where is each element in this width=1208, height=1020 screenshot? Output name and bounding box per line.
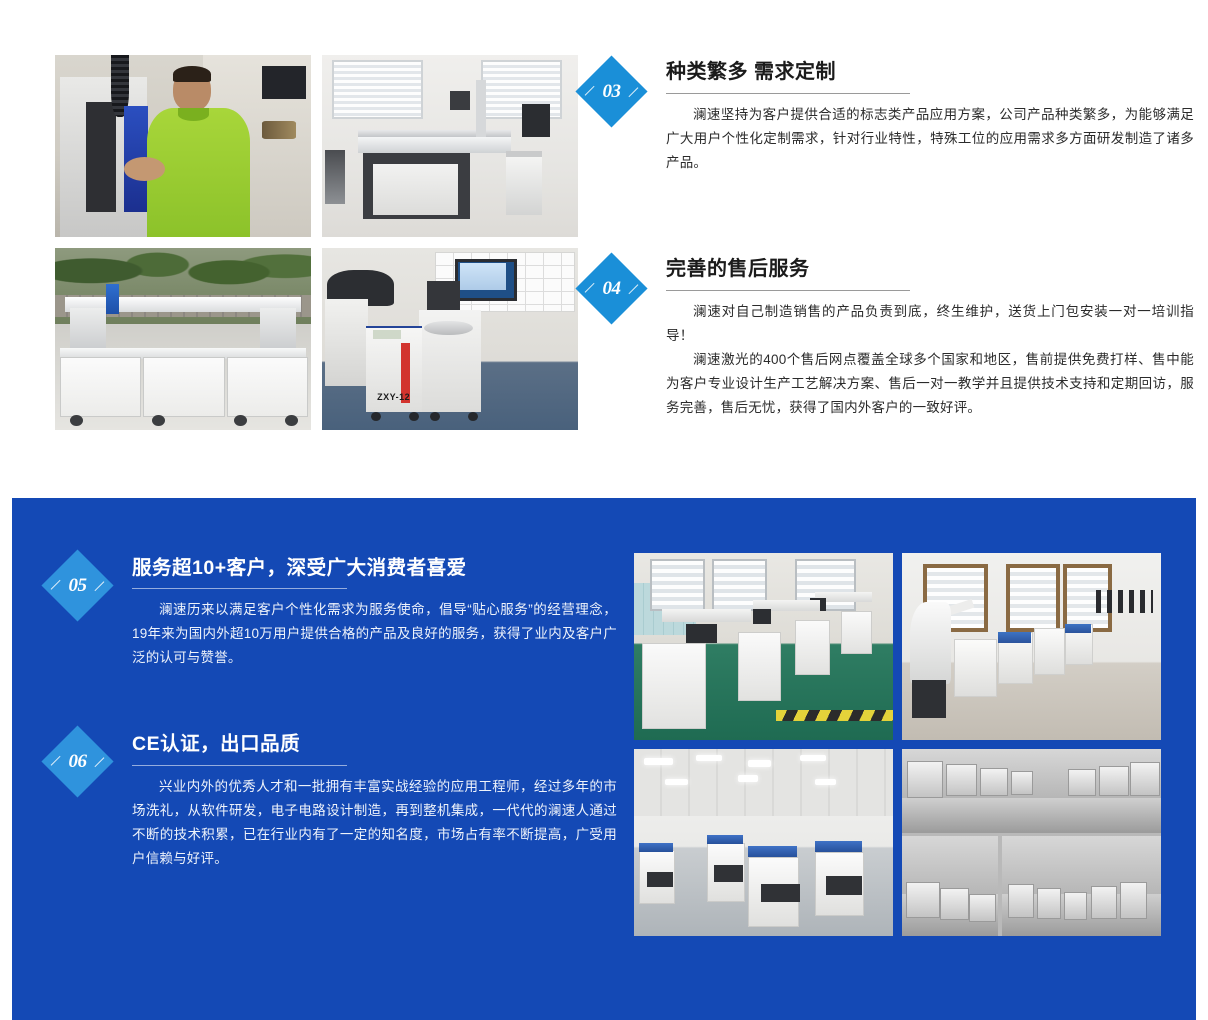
feature-title-03: 种类繁多 需求定制 <box>666 60 1194 85</box>
feature-block-04: 04 完善的售后服务 澜速对自己制造销售的产品负责到底，终生维护，送货上门包安装… <box>586 257 1194 420</box>
feature-paragraph: 澜速坚持为客户提供合适的标志类产品应用方案，公司产品种类繁多，为能够满足广大用户… <box>666 103 1194 175</box>
feature-body-04: 澜速对自己制造销售的产品负责到底，终生维护，送货上门包安装一对一培训指导！ 澜速… <box>666 300 1194 420</box>
step-badge-06: 06 <box>41 726 113 798</box>
title-divider <box>132 765 347 766</box>
photo-factory-floor-collage-grayscale: 厂房全景拼图（黑白） <box>902 749 1161 936</box>
feature-block-05: 05 服务超10+客户，深受广大消费者喜爱 澜速历来以满足客户个性化需求为服务使… <box>52 556 617 670</box>
feature-paragraph: 兴业内外的优秀人才和一批拥有丰富实战经验的应用工程师，经过多年的市场洗礼，从软件… <box>132 775 617 871</box>
feature-title-05: 服务超10+客户，深受广大消费者喜爱 <box>132 556 617 580</box>
feature-body-03: 澜速坚持为客户提供合适的标志类产品应用方案，公司产品种类繁多，为能够满足广大用户… <box>666 103 1194 175</box>
blue-highlight-panel: 05 服务超10+客户，深受广大消费者喜爱 澜速历来以满足客户个性化需求为服务使… <box>12 498 1196 1020</box>
step-badge-03: 03 <box>575 55 647 127</box>
panel-feature-list: 05 服务超10+客户，深受广大消费者喜爱 澜速历来以满足客户个性化需求为服务使… <box>52 556 617 927</box>
feature-block-03: 03 种类繁多 需求定制 澜速坚持为客户提供合适的标志类产品应用方案，公司产品种… <box>586 60 1194 175</box>
feature-paragraph: 澜速历来以满足客户个性化需求为服务使命，倡导“贴心服务”的经营理念，19年来为国… <box>132 598 617 670</box>
step-number: 03 <box>586 66 637 117</box>
title-divider <box>666 290 910 291</box>
step-number: 05 <box>52 560 103 611</box>
photo-laser-welding-station-with-chiller: ZXY-12 激光焊接工作站与工业冷水机 <box>322 248 578 430</box>
photo-showroom-robot-arm-and-machines: 展厅机器人手臂与激光设备 <box>902 553 1161 740</box>
top-photo-grid: 技术人员与激光打标设备 大幅面龙门式激光设备与冷水机 <box>55 55 578 435</box>
feature-paragraph: 澜速对自己制造销售的产品负责到底，终生维护，送货上门包安装一对一培训指导！ <box>666 300 1194 348</box>
feature-block-06: 06 CE认证，出口品质 兴业内外的优秀人才和一批拥有丰富实战经验的应用工程师，… <box>52 732 617 870</box>
step-number: 04 <box>586 263 637 314</box>
photo-workshop-row-of-white-welders: 车间内成排白色激光焊接机 <box>634 553 893 740</box>
photo-production-hall-blue-white-markers: 生产车间蓝白激光打标机群 <box>634 749 893 936</box>
feature-paragraph: 澜速激光的400个售后网点覆盖全球多个国家和地区，售前提供免费打样、售中能为客户… <box>666 348 1194 420</box>
feature-title-06: CE认证，出口品质 <box>132 732 617 756</box>
photo-gantry-laser-machine-with-chiller: 大幅面龙门式激光设备与冷水机 <box>322 55 578 237</box>
photo-large-white-gantry-machine-outdoor: 大型白色龙门机台（户外） <box>55 248 311 430</box>
panel-photo-grid: 车间内成排白色激光焊接机 展厅机器人手臂与激光设备 <box>634 553 1161 936</box>
feature-body-05: 澜速历来以满足客户个性化需求为服务使命，倡导“贴心服务”的经营理念，19年来为国… <box>132 598 617 670</box>
title-divider <box>132 588 347 589</box>
step-badge-04: 04 <box>575 252 647 324</box>
feature-body-06: 兴业内外的优秀人才和一批拥有丰富实战经验的应用工程师，经过多年的市场洗礼，从软件… <box>132 775 617 871</box>
feature-title-04: 完善的售后服务 <box>666 257 1194 282</box>
chiller-model-label: ZXY-12 <box>368 390 419 405</box>
step-number: 06 <box>52 736 103 787</box>
top-white-section: 技术人员与激光打标设备 大幅面龙门式激光设备与冷水机 <box>0 0 1208 498</box>
photo-technician-green-polo-laser-machine: 技术人员与激光打标设备 <box>55 55 311 237</box>
top-feature-list: 03 种类繁多 需求定制 澜速坚持为客户提供合适的标志类产品应用方案，公司产品种… <box>586 60 1194 454</box>
step-badge-05: 05 <box>41 549 113 621</box>
title-divider <box>666 93 910 94</box>
